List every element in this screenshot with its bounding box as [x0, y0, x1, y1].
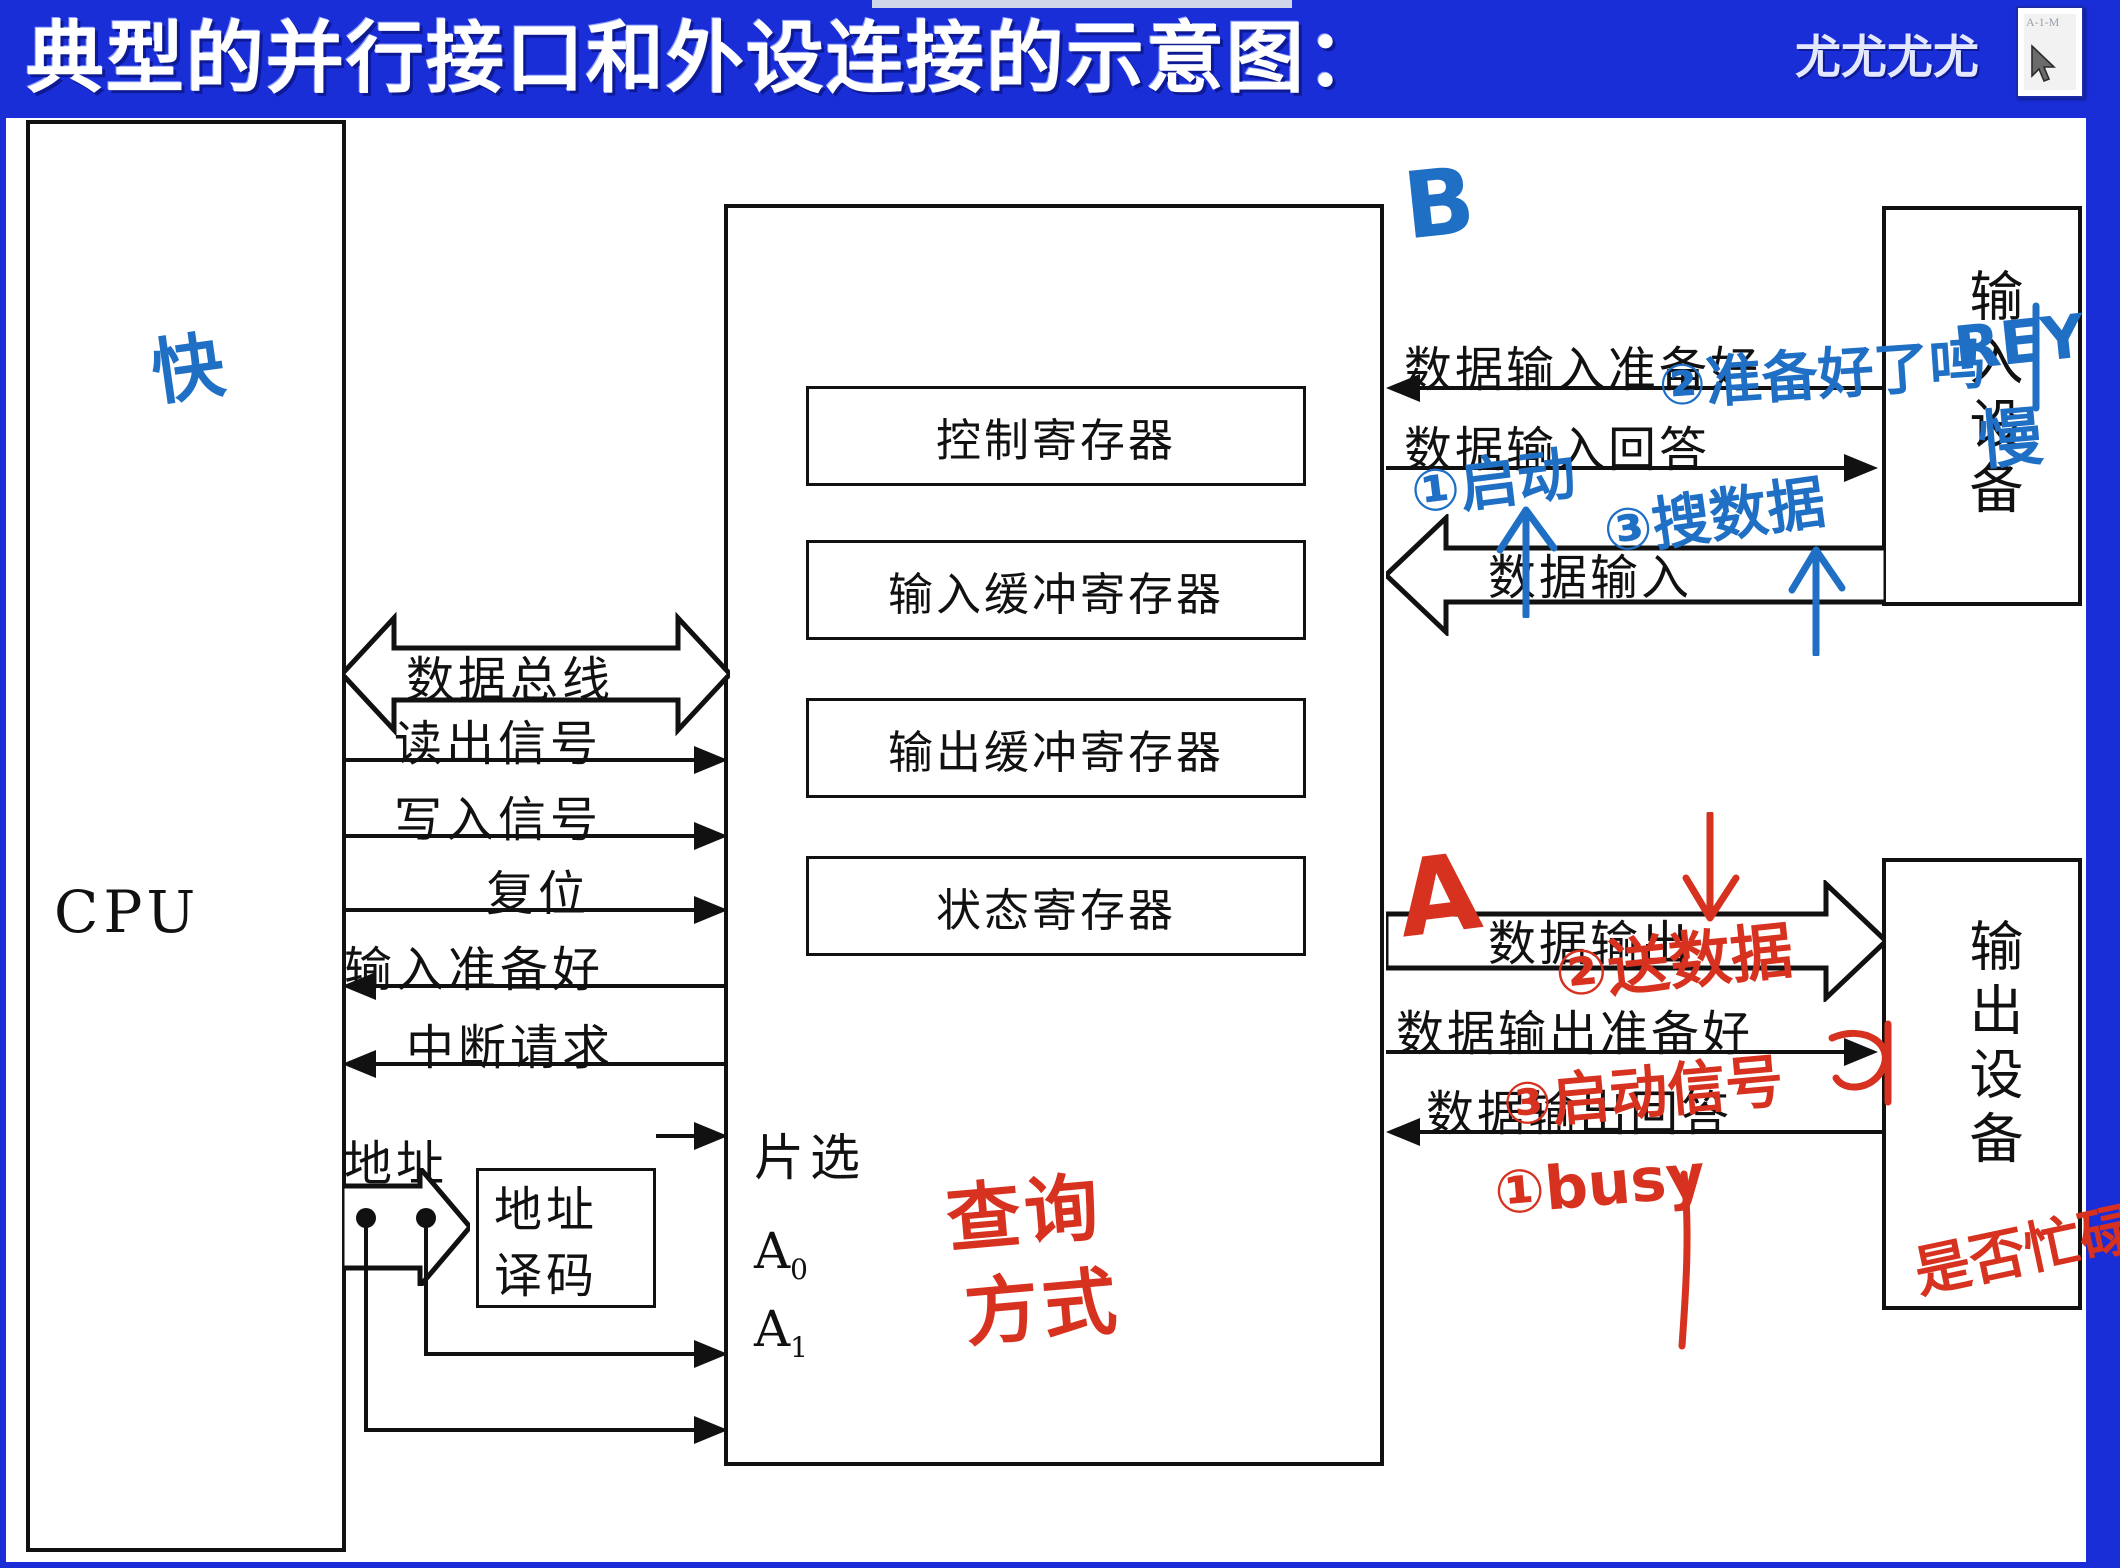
input-signal-label-ack: 数据输入回答: [1404, 410, 1710, 480]
register-output-buffer: 输出缓冲寄存器: [806, 698, 1306, 798]
signal-arrow-a0: [694, 1340, 728, 1368]
pin-a1-sub: 1: [790, 1331, 808, 1364]
diagram-canvas: CPU 控制寄存器 输入缓冲寄存器 输出缓冲寄存器 状态寄存器 片选 A0 A1…: [6, 118, 2086, 1562]
bus-label-read: 读出信号: [394, 704, 602, 774]
signal-arrow-a1: [694, 1416, 728, 1444]
cpu-label: CPU: [54, 878, 200, 946]
output-signal-label-data: 数据输出: [1488, 904, 1692, 974]
input-signal-arrow-ack: [1844, 454, 1878, 482]
annotation-red-step1-busy: ①busy: [1491, 1141, 1708, 1229]
bus-label-interrupt: 中断请求: [406, 1008, 614, 1078]
input-signal-label-ready: 数据输入准备好: [1404, 330, 1761, 400]
input-signal-label-data: 数据输入: [1488, 538, 1692, 608]
register-status: 状态寄存器: [806, 856, 1306, 956]
address-tap-vline-a1: [364, 1216, 368, 1432]
annotation-blue-group-b: B: [1399, 147, 1480, 261]
top-progress-bar: [872, 0, 1292, 8]
annotation-blue-arrow-up-2: [1772, 536, 1862, 656]
address-decoder-label-line2: 译码: [494, 1236, 598, 1306]
pin-a0-sub: 0: [790, 1253, 808, 1286]
signal-arrow-write: [694, 822, 728, 850]
annotation-red-busy-tail: [1666, 1170, 1706, 1350]
pin-label-chipselect: 片选: [754, 1118, 866, 1190]
address-tap-hline-a0: [424, 1352, 698, 1356]
address-tap-vline-a0: [424, 1216, 428, 1356]
bus-label-write: 写入信号: [394, 780, 602, 850]
register-control: 控制寄存器: [806, 386, 1306, 486]
bus-label-address: 地址: [344, 1124, 448, 1194]
watermark-text: 尤尤尤尤: [1795, 30, 1979, 84]
annotation-red-group-a: A: [1391, 829, 1487, 961]
output-signal-label-ack: 数据输出回答: [1426, 1074, 1732, 1144]
signal-arrow-read: [694, 746, 728, 774]
slide-header: 典型的并行接口和外设连接的示意图： 尤尤尤尤: [0, 0, 2120, 118]
address-decoder-label-line1: 地址: [494, 1170, 598, 1240]
output-signal-label-ready: 数据输出准备好: [1396, 994, 1753, 1064]
signal-arrow-chipselect: [694, 1122, 728, 1150]
slide-footer-bar: [0, 1562, 2120, 1568]
slide-root: 典型的并行接口和外设连接的示意图： 尤尤尤尤 A-1-M CPU 控制寄存器 输…: [0, 0, 2120, 1568]
address-tap-hline-a1: [364, 1428, 698, 1432]
register-input-buffer: 输入缓冲寄存器: [806, 540, 1306, 640]
pin-a1-letter: A: [754, 1300, 790, 1358]
bus-label-inputready: 输入准备好: [344, 930, 604, 1000]
page-title: 典型的并行接口和外设连接的示意图：: [26, 14, 1386, 104]
pin-a0-letter: A: [754, 1222, 790, 1280]
signal-arrow-interrupt: [342, 1050, 376, 1078]
pin-label-a1: A1: [754, 1300, 808, 1364]
output-signal-arrow-ack: [1386, 1118, 1420, 1146]
output-device-label: 输出设备: [1952, 918, 2031, 1174]
signal-arrow-reset: [694, 896, 728, 924]
cpu-box: [26, 120, 346, 1552]
mouse-pointer-icon: [2030, 44, 2058, 84]
bus-label-reset: 复位: [486, 854, 590, 924]
pin-label-a0: A0: [754, 1222, 808, 1286]
bus-label-databus: 数据总线: [406, 640, 614, 710]
input-device-label: 输入设备: [1952, 268, 2031, 524]
output-signal-arrow-ready: [1844, 1038, 1878, 1066]
